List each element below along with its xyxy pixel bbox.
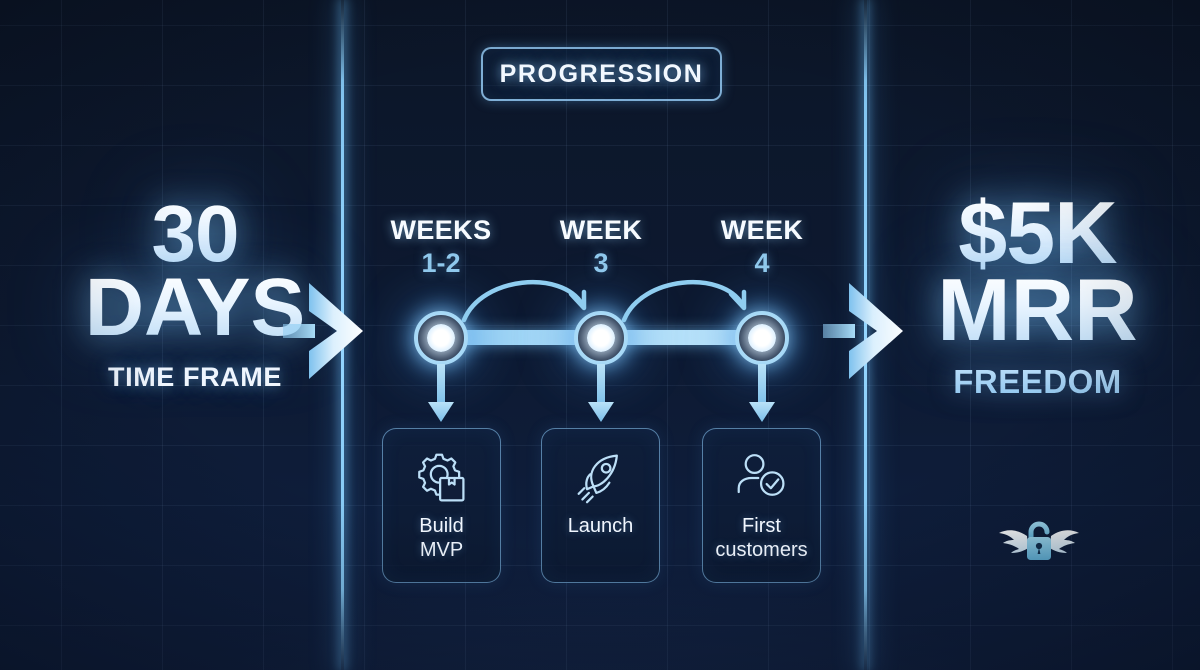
step-card-launch[interactable]: Launch [541,428,660,583]
step-card-label-3: First customers [715,515,807,562]
step-card-label-1-line1: Build [419,515,463,539]
step-card-label-3-line1: First [715,515,807,539]
arrow-right-icon-left [283,281,379,381]
milestone-3-title: WEEK [687,215,837,246]
right-summary-block: $5K MRR FREEDOM [905,192,1170,401]
curved-arrow-icon-1 [458,258,608,328]
progression-badge: PROGRESSION [481,47,722,101]
milestone-2-title: WEEK [526,215,676,246]
progression-badge-label: PROGRESSION [500,60,704,89]
rocket-icon [573,449,629,507]
infographic-canvas: PROGRESSION 30 DAYS TIME FRAME [0,0,1200,670]
timeframe-number: 30 [60,196,330,271]
winged-padlock-logo [997,512,1081,572]
arrow-down-icon-3 [747,364,777,426]
user-check-icon [734,449,790,507]
revenue-unit: MRR [905,269,1170,352]
arrow-down-icon-1 [426,364,456,426]
gear-box-icon [414,449,470,507]
step-card-label-3-line2: customers [715,539,807,563]
revenue-caption: FREEDOM [905,363,1170,401]
step-card-first-customers[interactable]: First customers [702,428,821,583]
step-card-label-1-line2: MVP [419,539,463,563]
step-card-label-2: Launch [568,515,634,539]
step-card-label-2-line1: Launch [568,515,634,539]
curved-arrow-icon-2 [618,258,768,328]
step-card-build-mvp[interactable]: Build MVP [382,428,501,583]
step-card-label-1: Build MVP [419,515,463,562]
arrow-down-icon-2 [586,364,616,426]
milestone-1-title: WEEKS [366,215,516,246]
